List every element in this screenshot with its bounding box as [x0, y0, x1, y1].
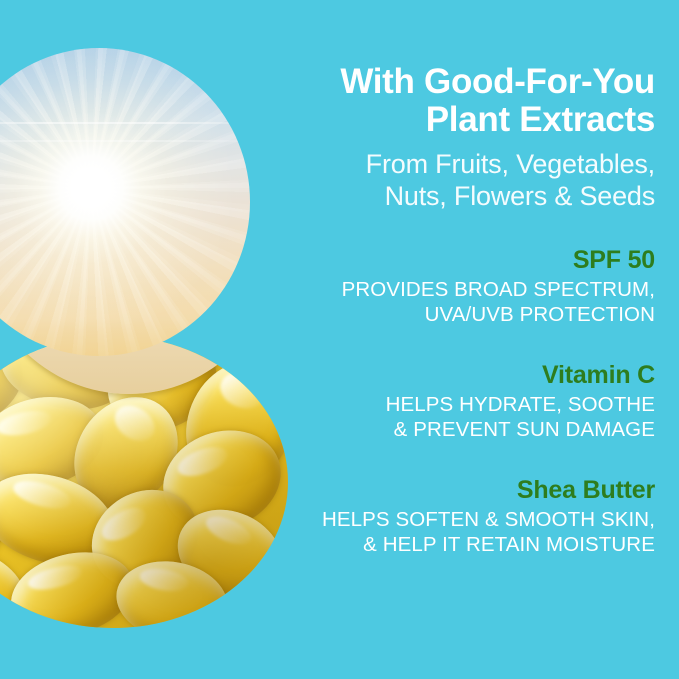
benefit-title: Shea Butter: [225, 476, 655, 504]
sky-streak: [0, 140, 250, 142]
benefit-description-line-1: HELPS SOFTEN & SMOOTH SKIN,: [322, 508, 655, 531]
headline-line-1: With Good-For-You: [340, 62, 655, 101]
page-title: With Good-For-You Plant Extracts: [225, 0, 655, 139]
benefit-description-line-2: & PREVENT SUN DAMAGE: [225, 417, 655, 442]
sun-rays-secondary: [0, 48, 250, 356]
benefit-description-line-1: HELPS HYDRATE, SOOTHE: [386, 393, 655, 416]
page-subtitle: From Fruits, Vegetables, Nuts, Flowers &…: [225, 139, 655, 212]
sun-haze: [0, 48, 250, 356]
benefit-description: HELPS HYDRATE, SOOTHE & PREVENT SUN DAMA…: [225, 389, 655, 442]
sun-burst-circle: [0, 48, 250, 356]
benefit-item-shea-butter: Shea Butter HELPS SOFTEN & SMOOTH SKIN, …: [225, 476, 655, 557]
sun-core-glow: [0, 48, 241, 338]
subhead-line-1: From Fruits, Vegetables,: [366, 149, 655, 179]
copy-column: With Good-For-You Plant Extracts From Fr…: [225, 0, 655, 557]
benefit-title: SPF 50: [225, 246, 655, 274]
benefit-description-line-2: UVA/UVB PROTECTION: [225, 302, 655, 327]
benefit-description: PROVIDES BROAD SPECTRUM, UVA/UVB PROTECT…: [225, 274, 655, 327]
sky-streak: [0, 122, 250, 124]
headline-line-2: Plant Extracts: [225, 101, 655, 139]
subhead-line-2: Nuts, Flowers & Seeds: [225, 180, 655, 212]
benefit-description-line-1: PROVIDES BROAD SPECTRUM,: [342, 278, 655, 301]
infographic-canvas: With Good-For-You Plant Extracts From Fr…: [0, 0, 679, 679]
sun-rays: [0, 48, 250, 356]
benefit-item-spf-50: SPF 50 PROVIDES BROAD SPECTRUM, UVA/UVB …: [225, 246, 655, 327]
benefit-description: HELPS SOFTEN & SMOOTH SKIN, & HELP IT RE…: [225, 504, 655, 557]
benefit-item-vitamin-c: Vitamin C HELPS HYDRATE, SOOTHE & PREVEN…: [225, 361, 655, 442]
benefit-title: Vitamin C: [225, 361, 655, 389]
benefit-description-line-2: & HELP IT RETAIN MOISTURE: [225, 532, 655, 557]
